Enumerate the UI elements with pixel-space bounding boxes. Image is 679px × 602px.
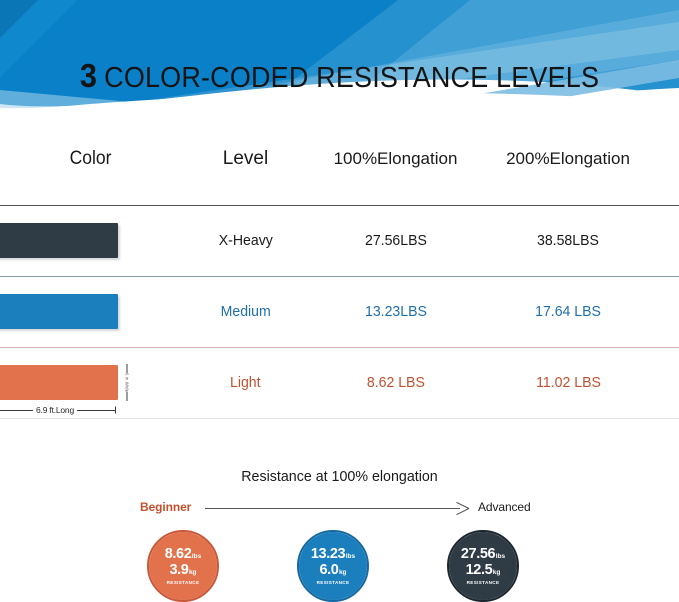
badge-caption: RESISTANCE: [467, 581, 500, 586]
badge-kg-value: 3.9: [169, 563, 188, 578]
axis-label-beginner: Beginner: [140, 500, 191, 514]
table-row: Medium 13.23LBS 17.64 LBS: [0, 277, 679, 347]
row-level-cell: Light: [178, 374, 313, 392]
badge-lbs-row: 27.56 lbs: [461, 547, 505, 562]
axis-label-advanced: Advanced: [478, 500, 531, 514]
badge-lbs-row: 8.62 lbs: [165, 547, 202, 562]
column-header-elongation-200: 200%Elongation: [506, 149, 630, 168]
band-width-annotation: 6 in.Wide: [121, 364, 133, 401]
level-label: X-Heavy: [218, 232, 272, 249]
elongation-200-value: 38.58LBS: [537, 232, 599, 249]
page-title: 3 COLOR-CODED RESISTANCE LEVELS: [24, 57, 655, 95]
arrow-right-icon: [455, 502, 470, 515]
row-level-cell: Medium: [178, 303, 313, 321]
row-e100-cell: 8.62 LBS: [313, 374, 478, 392]
color-swatch-medium: [0, 294, 118, 329]
column-header-color-cell: Color: [0, 148, 178, 170]
band-length-annotation: 6.9 ft.Long: [33, 405, 77, 415]
badge-kg-row: 12.5 kg: [466, 563, 501, 578]
level-label: Medium: [220, 303, 270, 320]
row-level-cell: X-Heavy: [178, 232, 313, 250]
row-color-cell: [0, 277, 178, 347]
badge-lbs-unit: lbs: [192, 554, 201, 561]
scale-axis: Beginner Advanced: [0, 498, 679, 518]
color-swatch-xheavy: [0, 223, 118, 258]
table-row: 6 in.Wide 6.9 ft.Long Light 8.62 LBS 11.…: [0, 348, 679, 418]
badge-text-block: 8.62 lbs 3.9 kg RESISTANCE: [147, 530, 219, 602]
badge-lbs-row: 13.23 lbs: [311, 547, 355, 562]
resistance-badge-light: 8.62 lbs 3.9 kg RESISTANCE: [147, 530, 219, 602]
row-color-cell: [0, 206, 178, 276]
badge-text-block: 27.56 lbs 12.5 kg RESISTANCE: [447, 530, 519, 602]
infographic-page: 3 COLOR-CODED RESISTANCE LEVELS Color Le…: [0, 0, 679, 602]
column-header-color: Color: [66, 148, 111, 170]
badge-lbs-value: 13.23: [311, 547, 345, 562]
column-header-level: Level: [223, 148, 268, 169]
elongation-100-value: 27.56LBS: [365, 232, 427, 249]
column-header-elongation-100: 100%Elongation: [334, 149, 458, 168]
badge-group: 8.62 lbs 3.9 kg RESISTANCE: [0, 530, 679, 602]
row-e200-cell: 38.58LBS: [478, 232, 658, 250]
elongation-200-value: 11.02 LBS: [536, 374, 601, 391]
row-e100-cell: 13.23LBS: [313, 303, 478, 321]
row-e200-cell: 11.02 LBS: [478, 374, 658, 392]
row-e200-cell: 17.64 LBS: [478, 303, 658, 321]
badge-kg-unit: kg: [189, 570, 197, 577]
row-color-cell: 6 in.Wide 6.9 ft.Long: [0, 348, 178, 418]
badge-lbs-unit: lbs: [496, 554, 505, 561]
badge-lbs-value: 27.56: [461, 547, 495, 562]
level-label: Light: [230, 374, 261, 391]
table-row: X-Heavy 27.56LBS 38.58LBS: [0, 206, 679, 276]
column-header-level-cell: Level: [178, 148, 313, 170]
badge-caption: RESISTANCE: [317, 581, 350, 586]
resistance-badge-xheavy: 27.56 lbs 12.5 kg RESISTANCE: [447, 530, 519, 602]
measure-cap-right: [115, 407, 116, 414]
color-swatch-light: [0, 365, 118, 400]
title-text: COLOR-CODED RESISTANCE LEVELS: [104, 62, 599, 94]
badge-kg-row: 6.0 kg: [319, 563, 346, 578]
resistance-scale-section: Resistance at 100% elongation Beginner A…: [0, 455, 679, 602]
axis-line: [205, 508, 460, 509]
badge-kg-unit: kg: [339, 570, 347, 577]
table-row-divider: [0, 418, 679, 419]
title-number: 3: [80, 57, 97, 94]
badge-kg-row: 3.9 kg: [169, 563, 196, 578]
header-banner: 3 COLOR-CODED RESISTANCE LEVELS: [0, 0, 679, 113]
badge-lbs-value: 8.62: [165, 547, 192, 562]
badge-caption: RESISTANCE: [167, 581, 200, 586]
row-e100-cell: 27.56LBS: [313, 232, 478, 250]
resistance-badge-medium: 13.23 lbs 6.0 kg RESISTANCE: [297, 530, 369, 602]
badge-lbs-unit: lbs: [346, 554, 355, 561]
elongation-100-value: 13.23LBS: [365, 303, 427, 320]
elongation-200-value: 17.64 LBS: [535, 303, 601, 320]
elongation-100-value: 8.62 LBS: [366, 374, 424, 391]
table-header-row: Color Level 100%Elongation 200%Elongatio…: [0, 113, 679, 205]
column-header-e100-cell: 100%Elongation: [313, 149, 478, 169]
badge-kg-unit: kg: [493, 570, 501, 577]
badge-kg-value: 6.0: [319, 563, 338, 578]
column-header-e200-cell: 200%Elongation: [478, 149, 658, 169]
badge-text-block: 13.23 lbs 6.0 kg RESISTANCE: [297, 530, 369, 602]
band-length-annotation-group: 6.9 ft.Long: [0, 403, 118, 417]
badge-kg-value: 12.5: [466, 563, 493, 578]
resistance-table: Color Level 100%Elongation 200%Elongatio…: [0, 113, 679, 419]
scale-title: Resistance at 100% elongation: [17, 468, 662, 485]
